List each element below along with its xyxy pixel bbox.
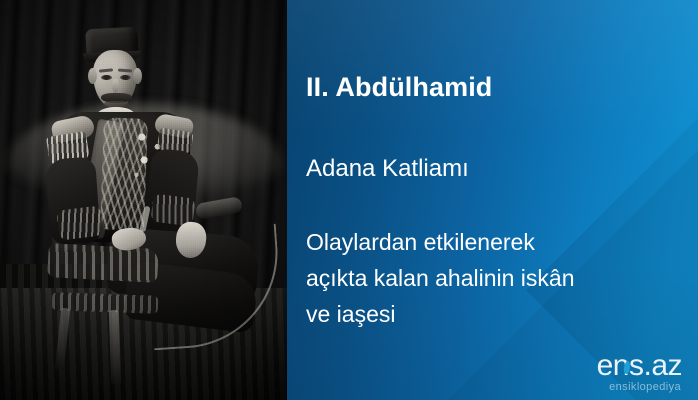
- ear-right: [133, 68, 142, 84]
- ear-left: [88, 68, 97, 84]
- body-line-2: açıkta kalan ahalinin iskân: [306, 260, 686, 296]
- brand-logo[interactable]: ens.az ensiklopediya: [597, 351, 682, 393]
- body-text: Olaylardan etkilenerek açıkta kalan ahal…: [306, 224, 686, 332]
- page-subtitle: Adana Katliamı: [306, 157, 469, 181]
- body-line-3: ve iaşesi: [306, 296, 686, 332]
- seated-figure: [0, 0, 287, 400]
- promo-card: II. Abdülhamid Adana Katliamı Olaylardan…: [0, 0, 698, 400]
- sabre-blade: [146, 224, 284, 351]
- chair-leg-front: [55, 308, 70, 371]
- chair-armrest: [195, 196, 243, 220]
- eye-left: [101, 75, 112, 80]
- page-title: II. Abdülhamid: [306, 74, 492, 101]
- nose: [112, 79, 119, 93]
- cuff-left: [56, 205, 103, 240]
- logo-tagline: ensiklopediya: [597, 382, 681, 393]
- portrait-photo: [0, 0, 287, 400]
- logo-wordmark: ens.az: [597, 351, 682, 381]
- chair-leg-center: [109, 310, 122, 384]
- eye-right: [120, 75, 131, 80]
- chair-seat: [47, 243, 159, 283]
- logo-wordmark-text: ens.az: [597, 349, 682, 382]
- blue-content-panel: II. Abdülhamid Adana Katliamı Olaylardan…: [287, 0, 698, 400]
- text-block: II. Abdülhamid Adana Katliamı Olaylardan…: [306, 0, 698, 400]
- body-line-1: Olaylardan etkilenerek: [306, 224, 686, 260]
